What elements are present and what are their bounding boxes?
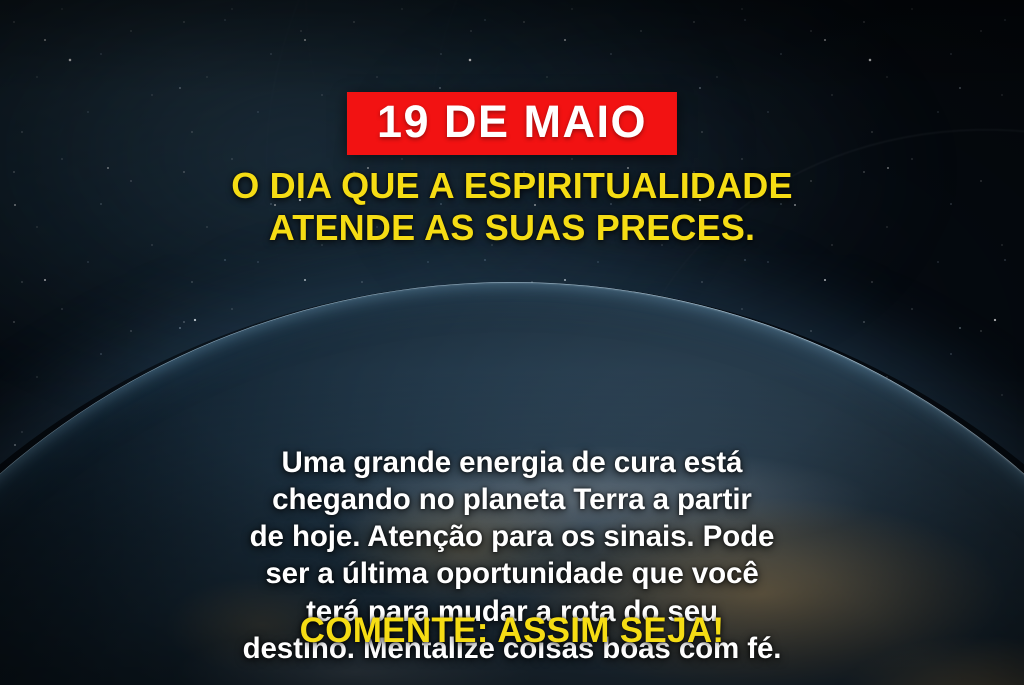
date-banner-label: 19 DE MAIO [377, 99, 647, 144]
poster-content: 19 DE MAIO O DIA QUE A ESPIRITUALIDADE A… [0, 0, 1024, 685]
headline-line-1: O DIA QUE A ESPIRITUALIDADE [40, 165, 984, 207]
call-to-action-text: COMENTE: ASSIM SEJA! [0, 613, 1024, 648]
body-line-3: de hoje. Atenção para os sinais. Pode [44, 518, 980, 555]
body-line-2: chegando no planeta Terra a partir [44, 481, 980, 518]
headline-line-2: ATENDE AS SUAS PRECES. [40, 207, 984, 249]
body-line-4: ser a última oportunidade que você [44, 555, 980, 592]
body-line-1: Uma grande energia de cura está [44, 444, 980, 481]
date-banner: 19 DE MAIO [347, 92, 677, 155]
poster-canvas: 19 DE MAIO O DIA QUE A ESPIRITUALIDADE A… [0, 0, 1024, 685]
headline: O DIA QUE A ESPIRITUALIDADE ATENDE AS SU… [0, 165, 1024, 249]
